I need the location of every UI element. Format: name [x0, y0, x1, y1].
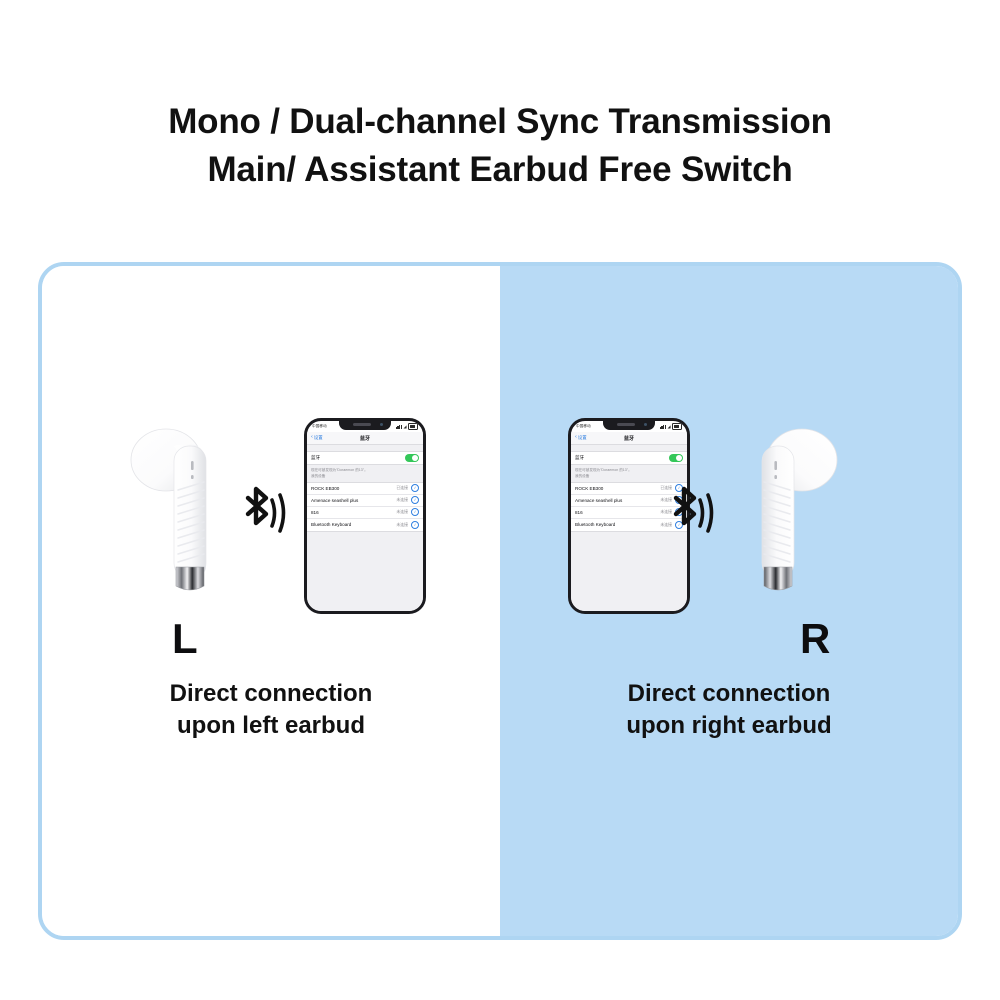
- left-scene: 中国移动 ◢ ‹ 设置 蓝牙: [42, 266, 500, 936]
- right-scene: 中国移动 ◢ ‹ 设置 蓝牙: [500, 266, 958, 936]
- wifi-icon: ◢: [404, 425, 407, 429]
- right-caption-line-1: Direct connection: [500, 678, 958, 710]
- status-indicators: ◢: [660, 423, 682, 429]
- nav-back-label: 设置: [578, 435, 587, 441]
- table-row[interactable]: Amenace seashell plus 未连接 i: [307, 495, 423, 507]
- info-circle-icon[interactable]: i: [411, 484, 419, 492]
- bluetooth-signal-icon: [236, 484, 288, 542]
- device-name: Bluetooth Keyboard: [575, 522, 660, 527]
- discoverable-note: 现在可被发现为"Doraemon 的13"。: [571, 465, 687, 474]
- device-name: 816: [311, 510, 396, 515]
- battery-icon: [408, 423, 418, 429]
- device-name: ROCK EB300: [311, 486, 396, 491]
- cellular-signal-icon: [660, 425, 666, 429]
- bluetooth-label: 蓝牙: [575, 455, 669, 461]
- phone-notch: [339, 420, 391, 430]
- device-list: ROCK EB300 已连接 i Amenace seashell plus 未…: [307, 482, 423, 532]
- discoverable-note: 现在可被发现为"Doraemon 的13"。: [307, 465, 423, 474]
- infographic-stage: Mono / Dual-channel Sync Transmission Ma…: [0, 0, 1000, 1000]
- device-name: Bluetooth Keyboard: [311, 522, 396, 527]
- my-devices-header: 我的设备: [307, 474, 423, 482]
- notch-camera: [644, 423, 647, 426]
- bluetooth-toggle[interactable]: [669, 454, 683, 462]
- device-status: 未连接: [396, 522, 408, 528]
- phone-notch: [603, 420, 655, 430]
- left-earbud-icon: [130, 416, 250, 606]
- left-caption-line-1: Direct connection: [42, 678, 500, 710]
- phone-nav-bar: ‹ 设置 蓝牙: [307, 432, 423, 445]
- bluetooth-settings-screen: 蓝牙 现在可被发现为"Doraemon 的13"。 我的设备 ROCK EB30…: [307, 445, 423, 611]
- info-circle-icon[interactable]: i: [411, 521, 419, 529]
- battery-icon: [672, 423, 682, 429]
- nav-title: 蓝牙: [624, 435, 634, 442]
- nav-back-button[interactable]: ‹ 设置: [311, 435, 323, 441]
- info-circle-icon[interactable]: i: [411, 496, 419, 504]
- comparison-panel: 中国移动 ◢ ‹ 设置 蓝牙: [38, 262, 962, 940]
- side-letter-left: L: [172, 618, 198, 660]
- right-earbud-icon: [718, 416, 838, 606]
- phone-nav-bar: ‹ 设置 蓝牙: [571, 432, 687, 445]
- notch-camera: [380, 423, 383, 426]
- left-caption-line-2: upon left earbud: [42, 710, 500, 742]
- cellular-signal-icon: [396, 425, 402, 429]
- title-line-2: Main/ Assistant Earbud Free Switch: [0, 146, 1000, 194]
- device-name: Amenace seashell plus: [575, 498, 660, 503]
- bluetooth-toggle[interactable]: [405, 454, 419, 462]
- bluetooth-toggle-group: 蓝牙: [307, 451, 423, 465]
- table-row[interactable]: 816 未连接 i: [307, 507, 423, 519]
- status-carrier: 中国移动: [576, 424, 591, 429]
- wifi-icon: ◢: [668, 425, 671, 429]
- device-status: 已连接: [396, 485, 408, 491]
- notch-speaker: [353, 423, 371, 426]
- chevron-left-icon: ‹: [311, 435, 313, 441]
- table-row[interactable]: Bluetooth Keyboard 未连接 i: [307, 519, 423, 531]
- status-carrier: 中国移动: [312, 424, 327, 429]
- nav-title: 蓝牙: [360, 435, 370, 442]
- device-name: ROCK EB300: [575, 486, 660, 491]
- bluetooth-toggle-row[interactable]: 蓝牙: [571, 452, 687, 464]
- info-circle-icon[interactable]: i: [411, 508, 419, 516]
- my-devices-header: 我的设备: [571, 474, 687, 482]
- bluetooth-toggle-group: 蓝牙: [571, 451, 687, 465]
- title-line-1: Mono / Dual-channel Sync Transmission: [0, 98, 1000, 146]
- device-status: 未连接: [396, 509, 408, 515]
- device-status: 未连接: [396, 497, 408, 503]
- device-name: 816: [575, 510, 660, 515]
- notch-speaker: [617, 423, 635, 426]
- bluetooth-toggle-row[interactable]: 蓝牙: [307, 452, 423, 464]
- bluetooth-signal-icon: [664, 484, 716, 542]
- page-title: Mono / Dual-channel Sync Transmission Ma…: [0, 98, 1000, 194]
- right-caption: Direct connection upon right earbud: [500, 678, 958, 742]
- side-letter-right: R: [800, 618, 830, 660]
- right-caption-line-2: upon right earbud: [500, 710, 958, 742]
- device-name: Amenace seashell plus: [311, 498, 396, 503]
- nav-back-label: 设置: [314, 435, 323, 441]
- nav-back-button[interactable]: ‹ 设置: [575, 435, 587, 441]
- bluetooth-label: 蓝牙: [311, 455, 405, 461]
- left-phone-mockup: 中国移动 ◢ ‹ 设置 蓝牙: [304, 418, 426, 614]
- status-indicators: ◢: [396, 423, 418, 429]
- left-caption: Direct connection upon left earbud: [42, 678, 500, 742]
- chevron-left-icon: ‹: [575, 435, 577, 441]
- table-row[interactable]: ROCK EB300 已连接 i: [307, 483, 423, 495]
